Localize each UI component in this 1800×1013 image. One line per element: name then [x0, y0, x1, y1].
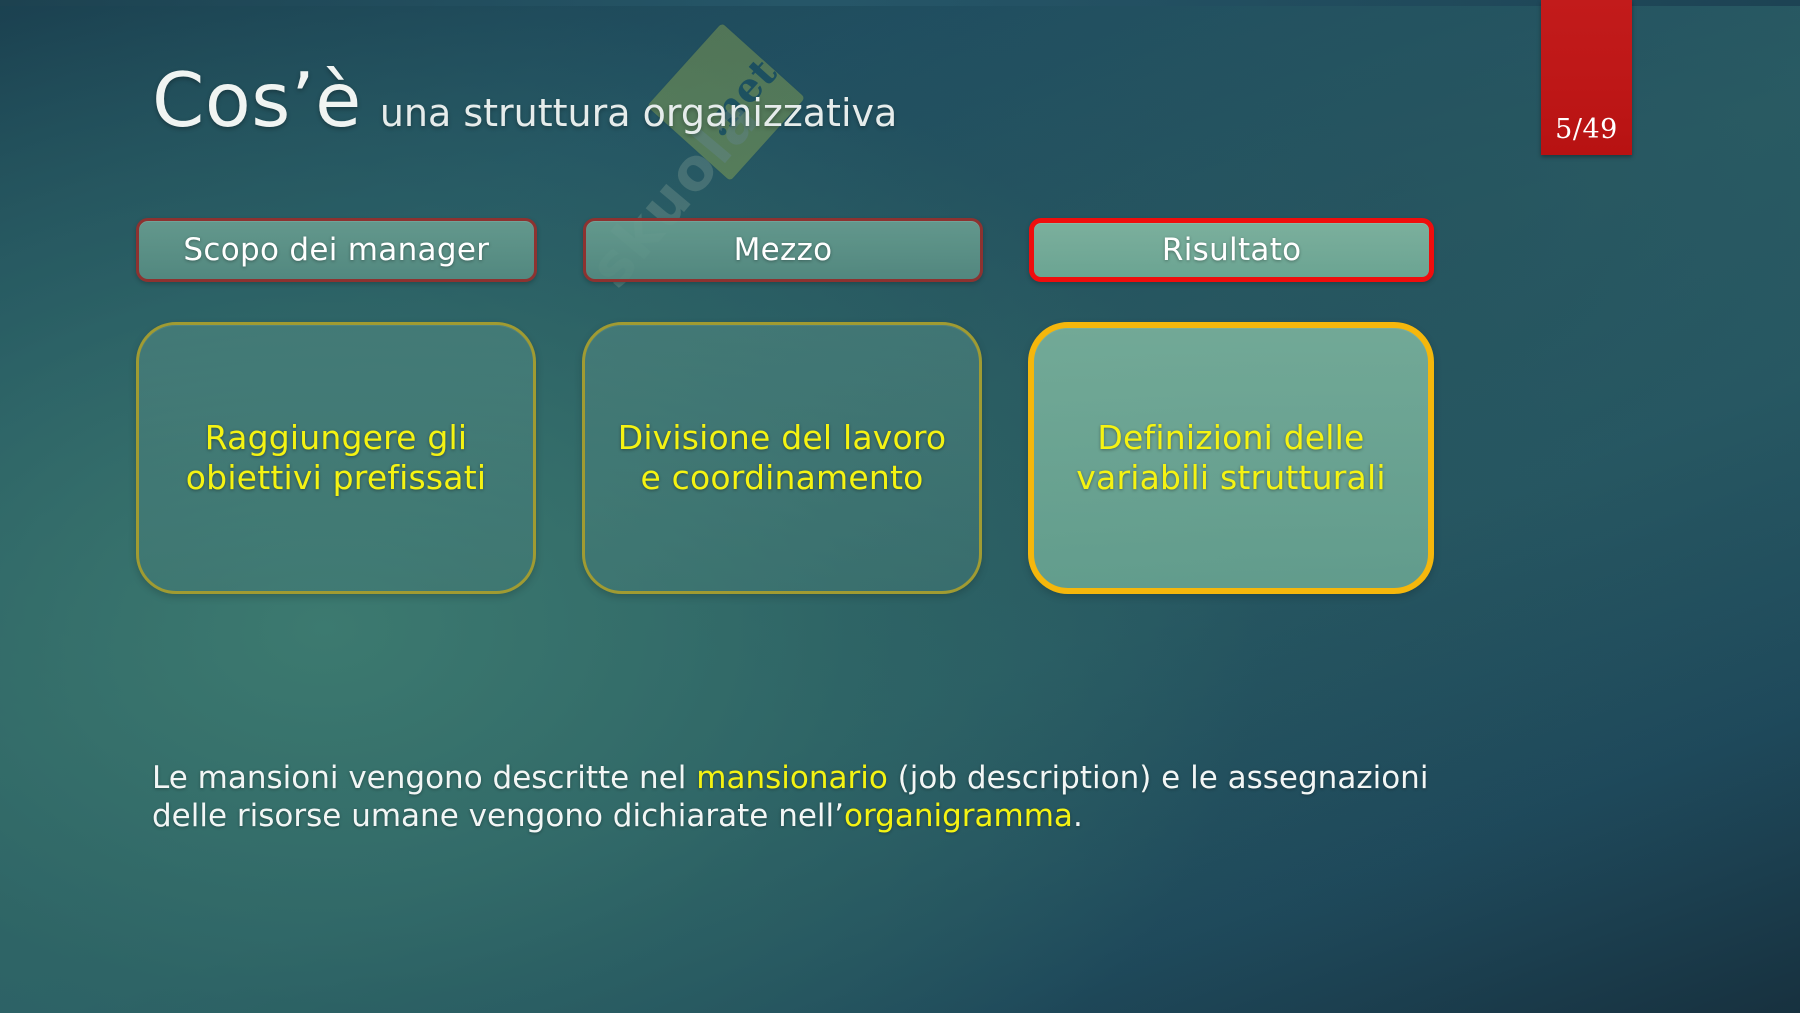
- body-row: Raggiungere gli obiettivi prefissati Div…: [136, 322, 1434, 594]
- header-card-scopo-label: Scopo dei manager: [183, 232, 489, 268]
- footer-note: Le mansioni vengono descritte nel mansio…: [152, 760, 1482, 836]
- body-card-scopo: Raggiungere gli obiettivi prefissati: [136, 322, 536, 594]
- header-card-risultato: Risultato: [1029, 218, 1434, 282]
- header-card-mezzo-label: Mezzo: [734, 232, 833, 268]
- page-title-subtitle: una struttura organizzativa: [380, 91, 897, 135]
- footer-note-highlight-organigramma: organigramma: [844, 798, 1073, 834]
- footer-note-highlight-mansionario: mansionario: [696, 760, 888, 796]
- body-card-risultato: Definizioni delle variabili strutturali: [1028, 322, 1434, 594]
- body-card-scopo-label: Raggiungere gli obiettivi prefissati: [186, 418, 486, 499]
- slide-canvas: .net skuola 5/49 Cos’è una struttura org…: [0, 0, 1800, 1013]
- body-card-risultato-label: Definizioni delle variabili strutturali: [1076, 418, 1385, 499]
- page-indicator-tab: 5/49: [1541, 0, 1632, 155]
- footer-note-part1: Le mansioni vengono descritte nel: [152, 760, 696, 796]
- header-card-risultato-label: Risultato: [1162, 232, 1302, 268]
- header-card-scopo: Scopo dei manager: [136, 218, 537, 282]
- header-card-mezzo: Mezzo: [583, 218, 984, 282]
- top-accent-strip: [0, 0, 1800, 6]
- header-row: Scopo dei manager Mezzo Risultato: [136, 218, 1434, 282]
- page-title-main: Cos’è: [152, 56, 362, 144]
- page-indicator-label: 5/49: [1555, 114, 1618, 145]
- footer-note-part3: .: [1073, 798, 1083, 834]
- body-card-mezzo: Divisione del lavoro e coordinamento: [582, 322, 982, 594]
- body-card-mezzo-label: Divisione del lavoro e coordinamento: [618, 418, 947, 499]
- page-title: Cos’è una struttura organizzativa: [152, 56, 897, 144]
